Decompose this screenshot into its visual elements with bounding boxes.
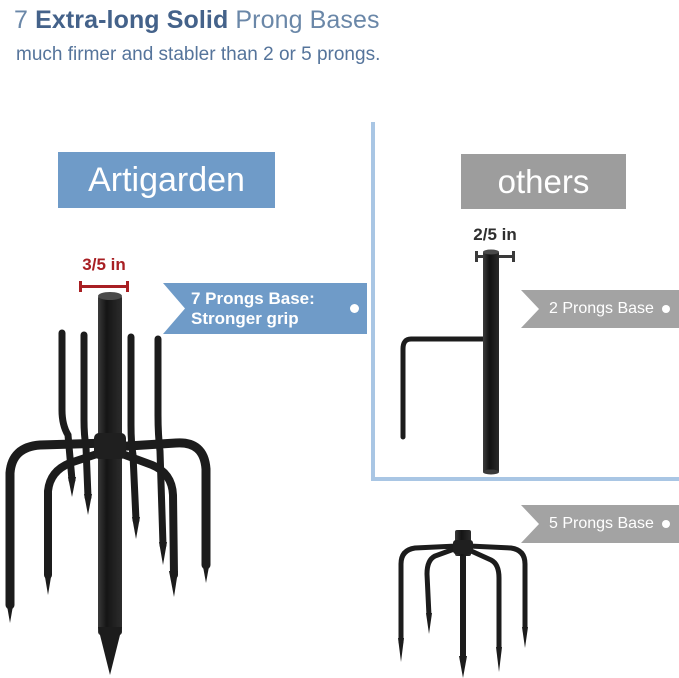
title-part-post: Prong Bases — [228, 6, 379, 34]
bullet-dot-icon — [662, 305, 670, 313]
callout-banner-label: 2 Prongs Base — [549, 300, 654, 318]
infographic-canvas: 7 Extra-long Solid Prong Bases much firm… — [0, 0, 679, 678]
five-prong-stake-illustration — [395, 530, 605, 678]
dimension-label: 3/5 in — [62, 255, 146, 275]
title-part-strong: Extra-long Solid — [35, 6, 228, 34]
brand-badge-label: Artigarden — [88, 161, 245, 200]
page-subtitle: much firmer and stabler than 2 or 5 pron… — [16, 42, 380, 68]
title-part-pre: 7 — [14, 6, 35, 34]
brand-badge-others: others — [461, 154, 626, 209]
brand-badge-label: others — [498, 163, 590, 201]
seven-prong-stake-illustration — [0, 275, 230, 675]
two-prong-stake-illustration — [395, 245, 535, 485]
callout-banner-two-prong: 2 Prongs Base — [521, 290, 679, 328]
dimension-label: 2/5 in — [440, 225, 550, 245]
bullet-dot-icon — [662, 520, 670, 528]
brand-badge-artigarden: Artigarden — [58, 152, 275, 208]
bullet-dot-icon — [350, 304, 359, 313]
vertical-divider — [371, 122, 375, 480]
page-title: 7 Extra-long Solid Prong Bases — [14, 4, 380, 36]
